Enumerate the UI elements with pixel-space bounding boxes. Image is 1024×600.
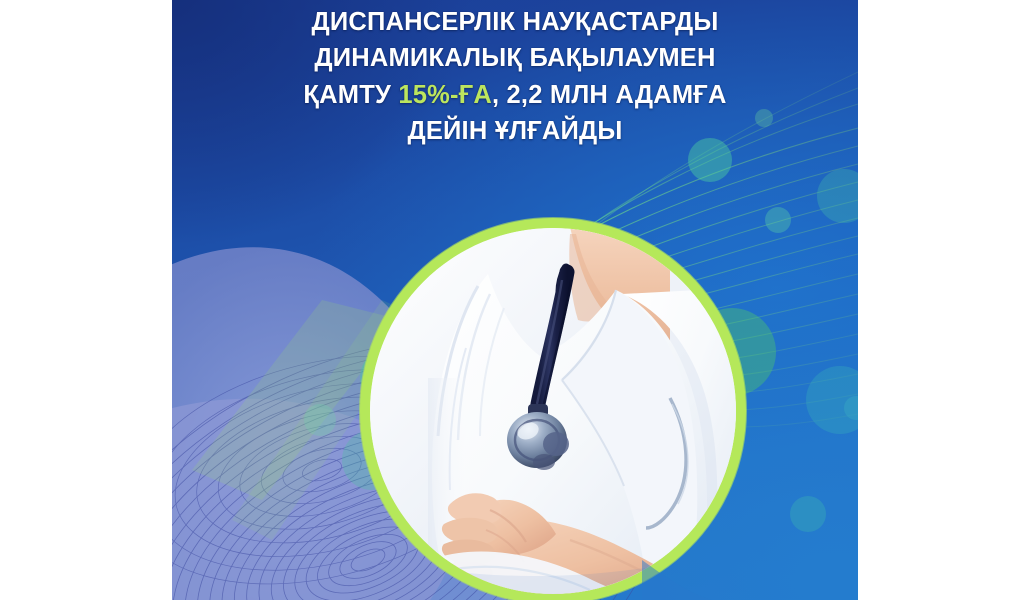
doctor-photo: [370, 228, 736, 594]
headline-line-3-suffix: , 2,2 МЛН АДАМҒА: [492, 81, 727, 109]
doctor-illustration: [370, 228, 736, 594]
headline: ДИСПАНСЕРЛІК НАУҚАСТАРДЫ ДИНАМИКАЛЫҚ БАҚ…: [172, 4, 858, 150]
doctor-photo-ring: [360, 218, 746, 600]
headline-line-3: ҚАМТУ 15%-ҒА, 2,2 МЛН АДАМҒА: [172, 77, 858, 113]
headline-line-1: ДИСПАНСЕРЛІК НАУҚАСТАРДЫ: [172, 4, 858, 40]
poster-canvas: ДИСПАНСЕРЛІК НАУҚАСТАРДЫ ДИНАМИКАЛЫҚ БАҚ…: [0, 0, 1024, 600]
headline-line-3-prefix: ҚАМТУ: [303, 81, 398, 109]
headline-line-4: ДЕЙІН ҰЛҒАЙДЫ: [172, 113, 858, 149]
headline-highlight-percent: 15%-ҒА: [398, 81, 492, 109]
headline-line-2: ДИНАМИКАЛЫҚ БАҚЫЛАУМЕН: [172, 40, 858, 76]
